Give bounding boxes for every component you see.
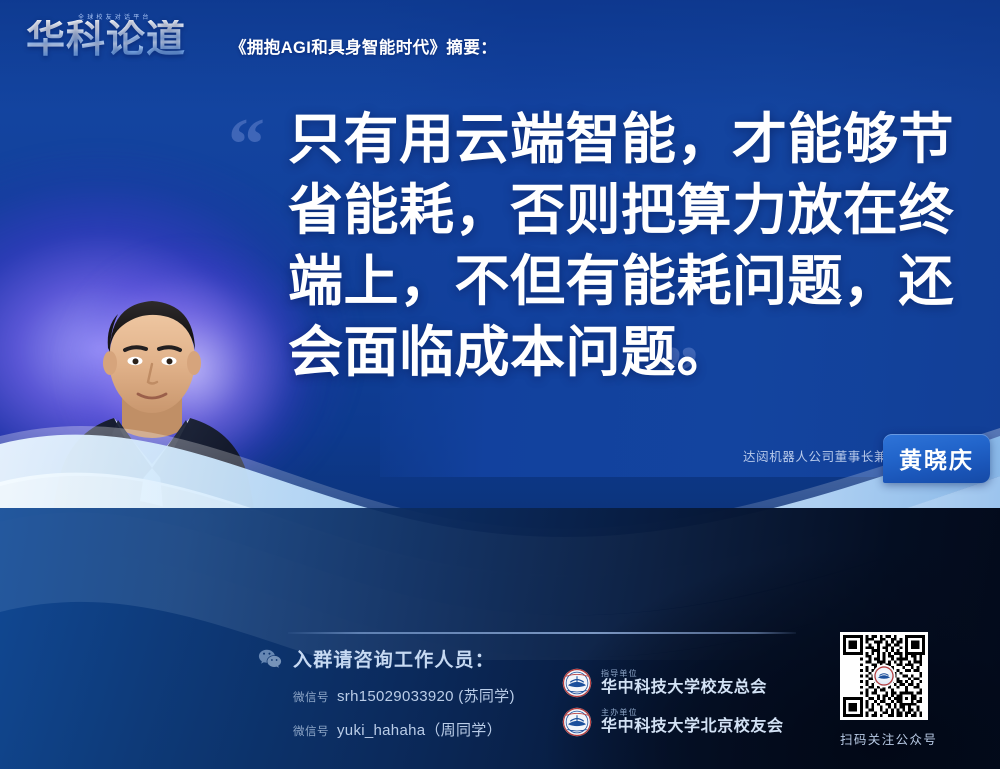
contact-section: 入群请咨询工作人员： 微信号 srh15029033920 (苏同学) 微信号 … <box>258 645 588 740</box>
qr-code[interactable] <box>840 632 928 720</box>
quote-line: 端上，不但有能耗问题，还 <box>288 246 944 317</box>
hust-seal-icon <box>562 707 592 737</box>
contact-title: 入群请咨询工作人员： <box>293 645 495 672</box>
organizer-text: 指导单位 华中科技大学校友总会 <box>601 670 767 697</box>
quote-text: 只有用云端智能，才能够节 省能耗，否则把算力放在终 端上，不但有能耗问题，还 会… <box>288 104 944 388</box>
speaker-attribution: 达闼机器人公司董事长兼CEO 黄晓庆 <box>743 446 916 465</box>
organizer-row: 指导单位 华中科技大学校友总会 <box>562 668 784 698</box>
organizer-name: 华中科技大学校友总会 <box>601 679 767 697</box>
quote-line: 会面临成本问题。 <box>288 317 944 388</box>
wechat-label: 微信号 <box>293 723 329 739</box>
organizer-text: 主办单位 华中科技大学北京校友会 <box>601 709 784 736</box>
organizer-name: 华中科技大学北京校友会 <box>601 718 784 736</box>
footer-divider <box>288 632 796 634</box>
poster-header: 全球校友对话平台 华科论道 《拥抱AGI和具身智能时代》摘要： <box>26 14 497 66</box>
wechat-contact-row[interactable]: 微信号 srh15029033920 (苏同学) <box>258 685 588 706</box>
organizer-row: 主办单位 华中科技大学北京校友会 <box>562 707 784 737</box>
wechat-id: yuki_hahaha（周同学） <box>337 719 502 740</box>
qr-center-logo <box>874 666 894 686</box>
qr-caption: 扫码关注公众号 <box>840 729 932 748</box>
speaker-name-badge: 黄晓庆 <box>883 434 990 483</box>
poster-canvas: 全球校友对话平台 华科论道 《拥抱AGI和具身智能时代》摘要： “ ” 只有用云… <box>0 0 1000 769</box>
hust-seal-icon <box>562 668 592 698</box>
wechat-icon <box>258 649 282 668</box>
episode-subtitle: 《拥抱AGI和具身智能时代》摘要： <box>230 34 497 66</box>
wechat-id: srh15029033920 (苏同学) <box>337 685 515 706</box>
qr-section: 扫码关注公众号 <box>840 632 932 748</box>
brand-name: 华科论道 <box>26 20 186 59</box>
organizer-kind: 指导单位 <box>601 670 767 679</box>
wechat-label: 微信号 <box>293 689 329 705</box>
brand-logo[interactable]: 全球校友对话平台 华科论道 <box>26 14 216 66</box>
quote-open-mark: “ <box>228 108 265 182</box>
organizer-section: 指导单位 华中科技大学校友总会 主办单位 华中科技大学北京校友会 <box>562 668 784 746</box>
wechat-contact-row[interactable]: 微信号 yuki_hahaha（周同学） <box>258 719 588 740</box>
quote-line: 只有用云端智能，才能够节 <box>288 104 944 175</box>
quote-line: 省能耗，否则把算力放在终 <box>288 175 944 246</box>
organizer-kind: 主办单位 <box>601 709 784 718</box>
contact-heading: 入群请咨询工作人员： <box>258 645 588 672</box>
quote-block: “ ” 只有用云端智能，才能够节 省能耗，否则把算力放在终 端上，不但有能耗问题… <box>228 104 944 388</box>
